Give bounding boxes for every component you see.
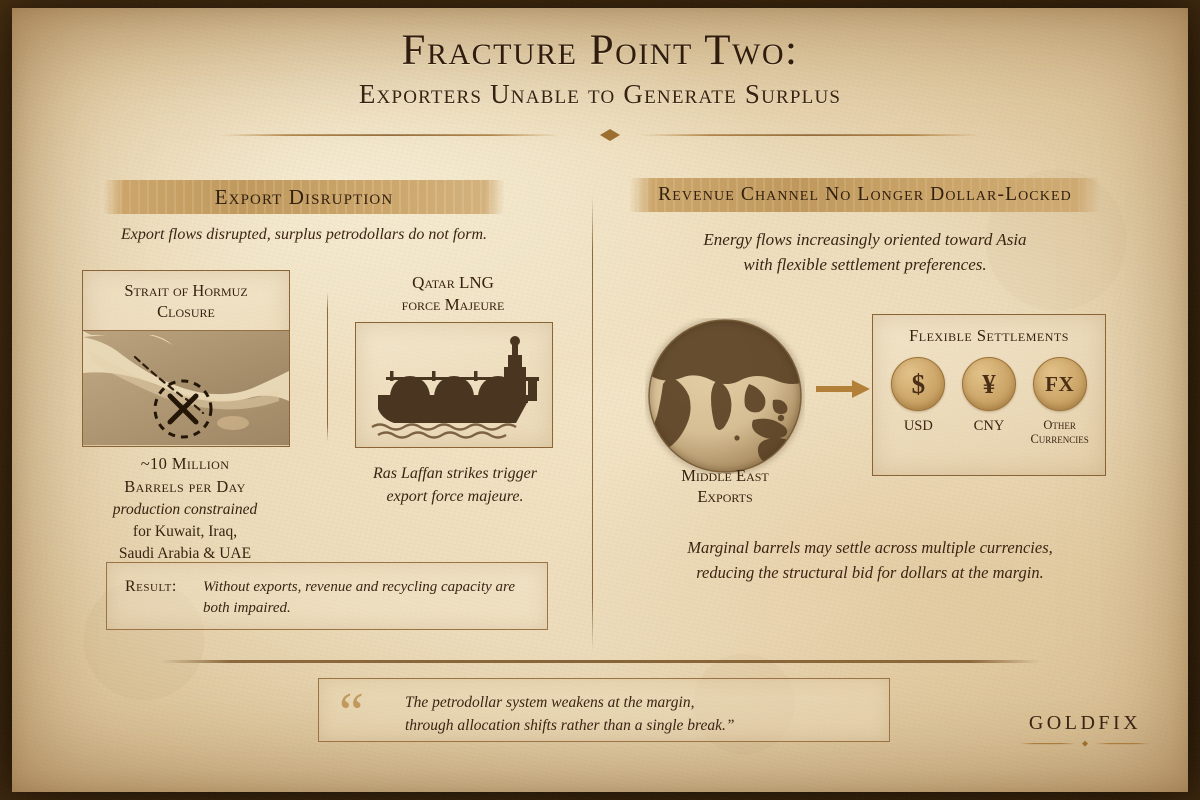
qatar-title-line1: Qatar LNG xyxy=(348,272,558,294)
hormuz-title-line2: Closure xyxy=(83,302,289,323)
hormuz-title-line1: Strait of Hormuz xyxy=(83,281,289,302)
coin-symbol-usd: $ xyxy=(912,371,926,398)
quote-text: The petrodollar system weakens at the ma… xyxy=(405,691,875,738)
infographic-canvas: Fracture Point Two: Exporters Unable to … xyxy=(0,0,1200,800)
right-column-heading-text: Revenue Channel No Longer Dollar-Locked xyxy=(658,184,1072,206)
brand-divider-ornament xyxy=(1020,739,1150,748)
currency-coin-row: $ USD ¥ CNY FX Other Currencies xyxy=(873,357,1105,447)
qatar-title-line2: force Majeure xyxy=(348,294,558,316)
coin-symbol-cny: ¥ xyxy=(982,371,996,398)
result-text: Without exports, revenue and recycling c… xyxy=(203,577,535,620)
flexible-settlements-panel: Flexible Settlements $ USD ¥ CNY FX Othe… xyxy=(872,314,1106,476)
qatar-card-title: Qatar LNG force Majeure xyxy=(348,272,558,316)
quote-line2: through allocation shifts rather than a … xyxy=(405,714,875,737)
quote-mark-icon: “ xyxy=(339,685,364,741)
page-title: Fracture Point Two: xyxy=(0,28,1200,73)
quote-line1: The petrodollar system weakens at the ma… xyxy=(405,691,875,714)
coin-label-other-line1: Other xyxy=(1028,418,1092,432)
coin-symbol-fx: FX xyxy=(1045,374,1074,395)
qatar-caption-line1: Ras Laffan strikes trigger xyxy=(340,462,570,485)
title-divider-ornament xyxy=(220,128,980,142)
column-divider xyxy=(592,196,593,651)
footer-divider xyxy=(160,660,1040,663)
hormuz-caption-line4: for Kuwait, Iraq, xyxy=(60,521,310,543)
card-divider xyxy=(327,292,328,442)
lng-tanker-ship-icon xyxy=(356,434,552,451)
qatar-caption: Ras Laffan strikes trigger export force … xyxy=(340,462,570,508)
brand-name: GOLDFIX xyxy=(1020,712,1150,735)
coin-label-cny: CNY xyxy=(957,418,1021,435)
right-column-subtitle-line2: with flexible settlement preferences. xyxy=(640,253,1090,278)
card-strait-of-hormuz: Strait of Hormuz Closure xyxy=(82,270,290,447)
qatar-caption-line2: export force majeure. xyxy=(340,485,570,508)
right-column-subtitle-line1: Energy flows increasingly oriented towar… xyxy=(640,228,1090,253)
persian-gulf-map-with-closure-x-icon xyxy=(83,331,289,446)
quote-box: “ The petrodollar system weakens at the … xyxy=(318,678,890,742)
margin-note-line1: Marginal barrels may settle across multi… xyxy=(650,536,1090,561)
right-column-heading: Revenue Channel No Longer Dollar-Locked xyxy=(630,178,1100,212)
globe-label: Middle East Exports xyxy=(620,466,830,507)
hormuz-caption-line2: Barrels per Day xyxy=(60,475,310,498)
globe-label-line1: Middle East xyxy=(620,466,830,487)
coin-label-other: Other Currencies xyxy=(1028,418,1092,447)
margin-note-line2: reducing the structural bid for dollars … xyxy=(650,561,1090,586)
globe-eastern-hemisphere-icon xyxy=(645,318,805,474)
globe-label-line2: Exports xyxy=(620,487,830,508)
result-label: Result: xyxy=(125,578,177,596)
hormuz-caption: ~10 Million Barrels per Day production c… xyxy=(60,452,310,565)
coin-usd: $ USD xyxy=(886,357,950,447)
title-block: Fracture Point Two: Exporters Unable to … xyxy=(0,28,1200,110)
coin-label-other-line2: Currencies xyxy=(1028,432,1092,446)
coin-other: FX Other Currencies xyxy=(1028,357,1092,447)
settlements-title: Flexible Settlements xyxy=(873,326,1105,346)
hormuz-card-title: Strait of Hormuz Closure xyxy=(83,281,289,322)
hormuz-caption-line1: ~10 Million xyxy=(60,452,310,475)
margin-note: Marginal barrels may settle across multi… xyxy=(650,536,1090,586)
fx-text-icon: FX xyxy=(1033,357,1087,411)
dollar-sign-icon: $ xyxy=(891,357,945,411)
result-box: Result: Without exports, revenue and rec… xyxy=(106,562,548,630)
card-qatar-lng xyxy=(355,322,553,448)
hormuz-caption-line3: production constrained xyxy=(60,499,310,521)
right-column-subtitle: Energy flows increasingly oriented towar… xyxy=(640,228,1090,277)
left-column-subtitle: Export flows disrupted, surplus petrodol… xyxy=(104,226,504,244)
yen-yuan-sign-icon: ¥ xyxy=(962,357,1016,411)
right-arrow-icon xyxy=(816,378,870,400)
page-subtitle: Exporters Unable to Generate Surplus xyxy=(0,79,1200,110)
coin-cny: ¥ CNY xyxy=(957,357,1021,447)
left-column-heading: Export Disruption xyxy=(104,180,504,214)
brand-logo: GOLDFIX xyxy=(1020,712,1150,753)
left-column-heading-text: Export Disruption xyxy=(215,185,394,210)
coin-label-usd: USD xyxy=(886,418,950,435)
